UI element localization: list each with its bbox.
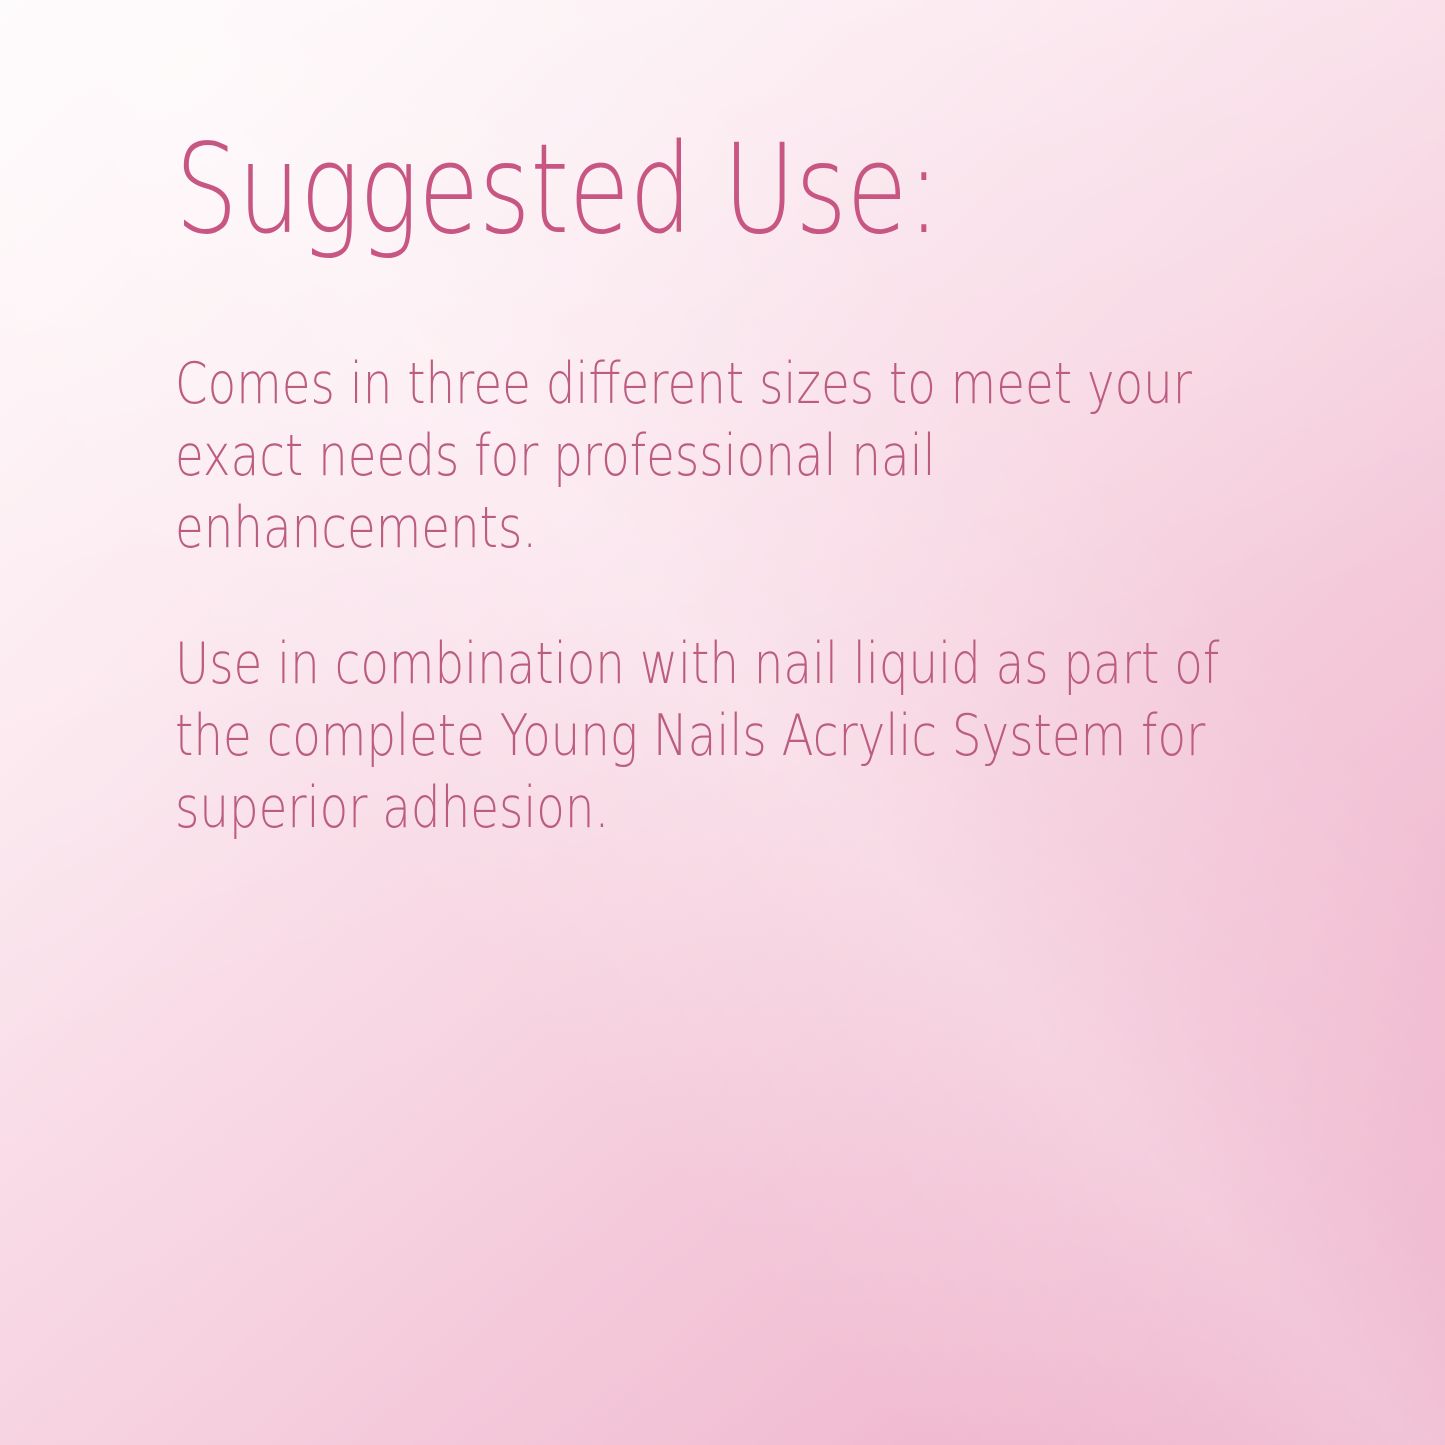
usage-paragraph-sizes: Comes in three different sizes to meet y… — [175, 348, 1225, 564]
usage-paragraph-system: Use in combination with nail liquid as p… — [175, 628, 1225, 844]
page-title: Suggested Use: — [175, 128, 1023, 252]
suggested-use-panel: Suggested Use: Comes in three different … — [0, 0, 1445, 1445]
